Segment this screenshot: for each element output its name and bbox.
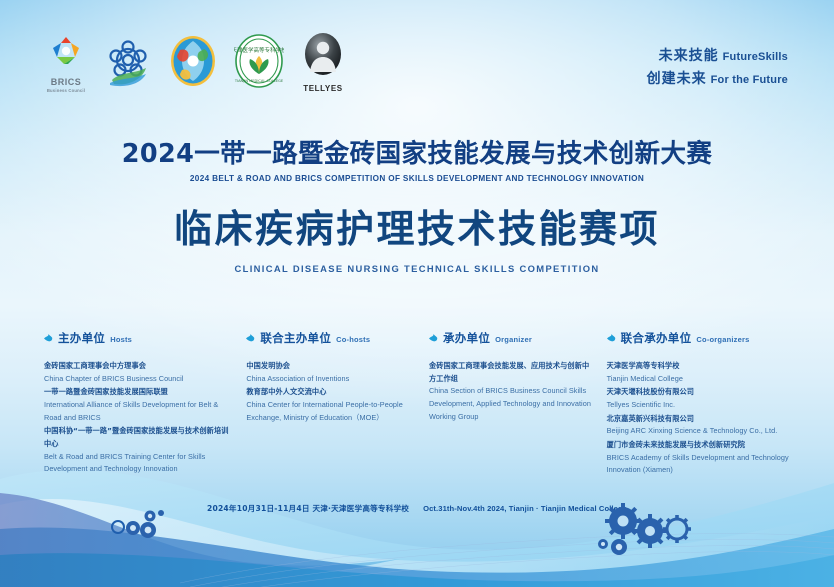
college-emblem-icon: 天津医学高等专科学校 TIANJIN MEDICAL COLLEGE: [234, 34, 284, 88]
event-title-cn: 临床疾病护理技术技能赛项: [0, 209, 834, 251]
partner-logos: BRICS Business Council: [44, 32, 346, 93]
invention-emblem-icon: [104, 36, 152, 88]
org-name-en: BRICS Academy of Skills Development and …: [607, 452, 790, 478]
org-name-cn: 一带一路暨金砖国家技能发展国际联盟: [44, 386, 232, 399]
org-name-en: China Center for International People-to…: [246, 399, 415, 425]
tellyes-logo: TELLYES: [300, 32, 346, 93]
slogan-en-1: FutureSkills: [723, 51, 788, 63]
column-header: 主办单位 Hosts: [44, 330, 232, 346]
org-name-cn: 厦门市金砖未来技能发展与技术创新研究院: [607, 439, 790, 452]
column-title-en: Hosts: [110, 335, 132, 344]
column-header: 联合承办单位 Co-organizers: [607, 330, 790, 346]
column-title-cn: 联合主办单位: [260, 330, 331, 346]
org-name-cn: 中国科协“一带一路”暨金砖国家技能发展与技术创新培训中心: [44, 425, 232, 450]
slogan-block: 未来技能FutureSkills 创建未来For the Future: [647, 44, 788, 90]
org-name-en: China Section of BRICS Business Council …: [429, 385, 593, 423]
svg-text:TIANJIN MEDICAL COLLEGE: TIANJIN MEDICAL COLLEGE: [234, 79, 284, 83]
column-title-cn: 主办单位: [58, 330, 105, 346]
column-title-cn: 承办单位: [443, 330, 490, 346]
dateline-cn: 2024年10月31日-11月4日 天津·天津医学高等专科学校: [207, 504, 409, 513]
org-name-en: Beijing ARC Xinxing Science & Technology…: [607, 425, 790, 438]
slogan-line-2: 创建未来For the Future: [647, 67, 788, 90]
slogan-en-2: For the Future: [711, 74, 788, 86]
brics-logo-text: BRICS: [44, 78, 88, 87]
alliance-emblem-icon: [168, 34, 218, 88]
gear-cluster-left: [110, 507, 170, 541]
leaf-marker-icon: [246, 334, 255, 343]
column-header: 联合主办单位 Co-hosts: [246, 330, 415, 346]
org-name-cn: 天津天堰科技股份有限公司: [607, 386, 790, 399]
tianjin-medical-college-logo: 天津医学高等专科学校 TIANJIN MEDICAL COLLEGE: [234, 34, 284, 93]
event-title-en: CLINICAL DISEASE NURSING TECHNICAL SKILL…: [0, 263, 834, 274]
china-association-of-inventions-logo: [104, 36, 152, 93]
competition-title-en: 2024 BELT & ROAD AND BRICS COMPETITION O…: [0, 174, 834, 183]
column-title-en: Organizer: [495, 335, 532, 344]
org-name-en: Tellyes Scientific Inc.: [607, 399, 790, 412]
slogan-cn-1: 未来技能: [659, 48, 719, 64]
org-name-cn: 金砖国家工商理事会技能发展、应用技术与创新中方工作组: [429, 360, 593, 385]
org-name-cn: 中国发明协会: [246, 360, 415, 373]
org-name-cn: 金砖国家工商理事会中方理事会: [44, 360, 232, 373]
tellyes-emblem-icon: [301, 32, 345, 78]
org-name-en: China Association of Inventions: [246, 373, 415, 386]
org-name-en: Belt & Road and BRICS Training Center fo…: [44, 451, 232, 477]
organizer-columns: 主办单位 Hosts 金砖国家工商理事会中方理事会 China Chapter …: [44, 330, 804, 478]
title-block: 2024一带一路暨金砖国家技能发展与技术创新大赛 2024 BELT & ROA…: [0, 140, 834, 274]
organizer-column-coorganizers: 联合承办单位 Co-organizers 天津医学高等专科学校 Tianjin …: [607, 330, 804, 478]
gear-cluster-right: [595, 499, 705, 559]
column-title-en: Co-organizers: [696, 335, 749, 344]
leaf-marker-icon: [429, 334, 438, 343]
international-alliance-logo: [168, 34, 218, 93]
column-header: 承办单位 Organizer: [429, 330, 593, 346]
org-name-cn: 教育部中外人文交流中心: [246, 386, 415, 399]
competition-title-cn: 2024一带一路暨金砖国家技能发展与技术创新大赛: [0, 140, 834, 168]
column-title-cn: 联合承办单位: [621, 330, 692, 346]
leaf-marker-icon: [607, 334, 616, 343]
brics-business-council-logo: BRICS Business Council: [44, 35, 88, 93]
slogan-line-1: 未来技能FutureSkills: [647, 44, 788, 67]
org-name-en: Tianjin Medical College: [607, 373, 790, 386]
brics-emblem-icon: [46, 35, 86, 71]
conference-banner: BRICS Business Council: [0, 0, 834, 587]
org-name-en: China Chapter of BRICS Business Council: [44, 373, 232, 386]
brics-logo-subtext: Business Council: [44, 89, 88, 93]
organizer-column-hosts: 主办单位 Hosts 金砖国家工商理事会中方理事会 China Chapter …: [44, 330, 246, 478]
org-name-cn: 天津医学高等专科学校: [607, 360, 790, 373]
slogan-cn-2: 创建未来: [647, 71, 707, 87]
org-name-cn: 北京嘉英新兴科技有限公司: [607, 413, 790, 426]
svg-text:天津医学高等专科学校: 天津医学高等专科学校: [234, 46, 284, 54]
org-name-en: International Alliance of Skills Develop…: [44, 399, 232, 425]
organizer-column-organizer: 承办单位 Organizer 金砖国家工商理事会技能发展、应用技术与创新中方工作…: [429, 330, 607, 478]
tellyes-logo-text: TELLYES: [300, 84, 346, 93]
leaf-marker-icon: [44, 334, 53, 343]
organizer-column-cohosts: 联合主办单位 Co-hosts 中国发明协会 China Association…: [246, 330, 429, 478]
column-title-en: Co-hosts: [336, 335, 370, 344]
